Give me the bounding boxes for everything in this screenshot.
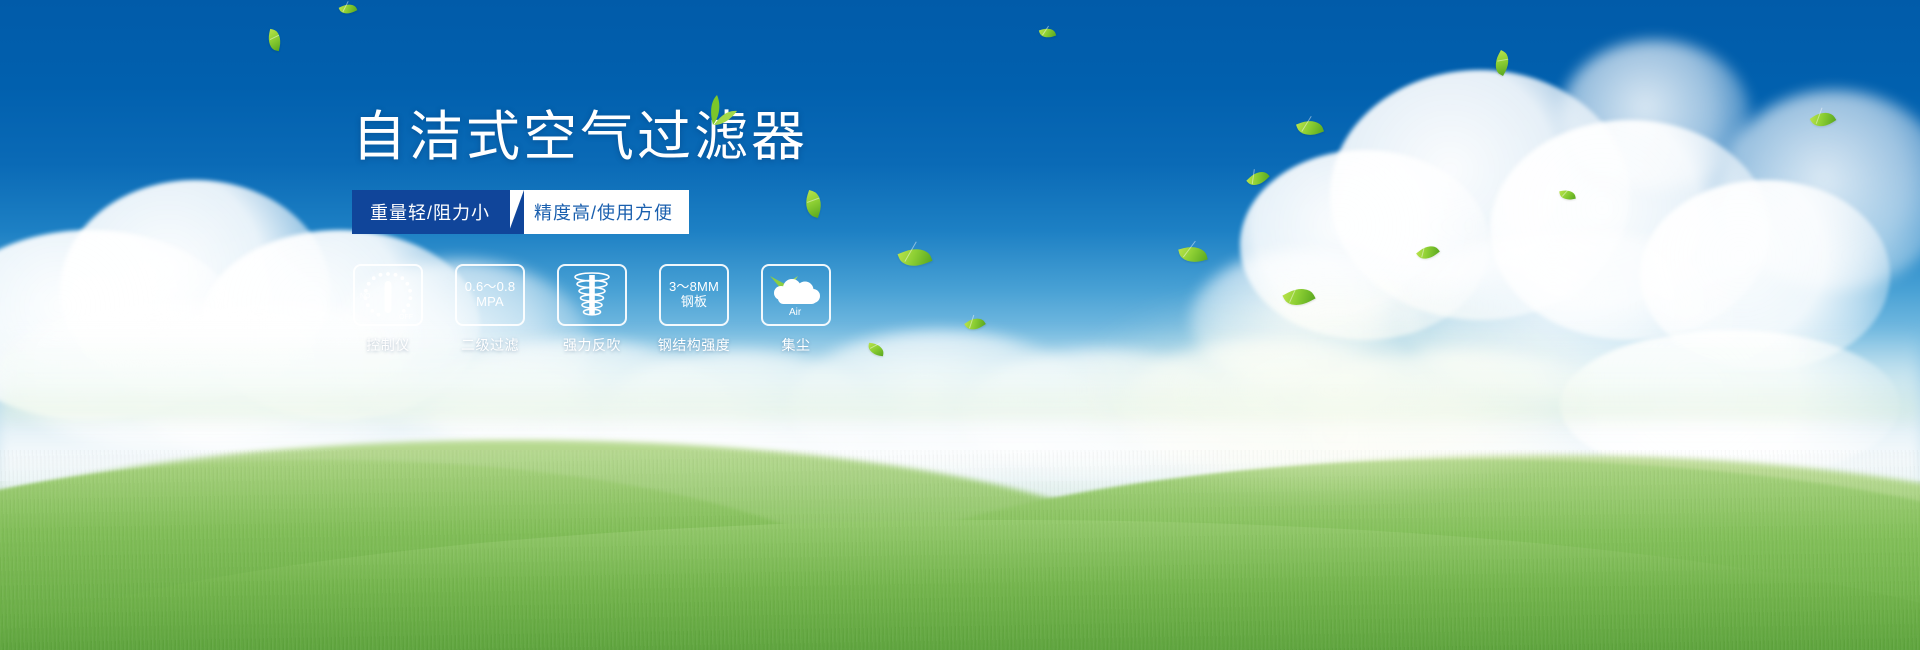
feature-icon-row: NO OFF 控制仪 0.6～0.8 MPA 二级过滤 <box>352 264 872 355</box>
feature-icon-box: 3～8MM 钢板 <box>659 264 729 326</box>
grass-landscape <box>0 350 1920 650</box>
product-hero-banner: 自洁式空气过滤器 重量轻/阻力小 精度高/使用方便 <box>0 0 1920 650</box>
feature-label: 钢结构强度 <box>658 335 731 355</box>
feature-label: 强力反吹 <box>563 335 621 355</box>
steel-plate-text-icon-line1: 3～8MM <box>669 280 719 295</box>
feature-icon-box: Air <box>761 264 831 326</box>
dial-label-no: NO <box>360 293 371 300</box>
feature-item-reverse-blow[interactable]: 强力反吹 <box>556 264 628 355</box>
pressure-text-icon-line2: MPA <box>476 295 504 310</box>
feature-icon-box: 0.6～0.8 MPA <box>455 264 525 326</box>
feature-label: 控制仪 <box>366 335 410 355</box>
feature-item-dust-collection[interactable]: Air 集尘 <box>760 264 832 355</box>
cloud-air-caption: Air <box>789 307 802 318</box>
feature-item-secondary-filtration[interactable]: 0.6～0.8 MPA 二级过滤 <box>454 264 526 355</box>
feature-label: 二级过滤 <box>461 335 519 355</box>
feature-icon-box <box>557 264 627 326</box>
steel-plate-text-icon-line2: 钢板 <box>681 295 707 310</box>
tab-precision-convenience[interactable]: 精度高/使用方便 <box>508 190 689 234</box>
dial-gauge-icon: NO OFF <box>357 267 419 323</box>
dial-label-off: OFF <box>399 314 413 321</box>
feature-item-controller[interactable]: NO OFF 控制仪 <box>352 264 424 355</box>
banner-content: 自洁式空气过滤器 重量轻/阻力小 精度高/使用方便 <box>352 108 872 355</box>
sun-glow <box>1075 280 1595 500</box>
horizon-glow <box>0 330 1920 420</box>
feature-label: 集尘 <box>782 335 811 355</box>
filter-coil-icon <box>567 270 617 320</box>
feature-icon-box: NO OFF <box>353 264 423 326</box>
cloud-air-icon: Air <box>768 272 824 318</box>
tab-weight-resistance[interactable]: 重量轻/阻力小 <box>352 190 510 234</box>
page-title: 自洁式空气过滤器 <box>352 108 872 166</box>
pressure-text-icon-line1: 0.6～0.8 <box>465 280 516 295</box>
feature-item-steel-strength[interactable]: 3～8MM 钢板 钢结构强度 <box>658 264 730 355</box>
feature-tabs: 重量轻/阻力小 精度高/使用方便 <box>352 190 677 234</box>
